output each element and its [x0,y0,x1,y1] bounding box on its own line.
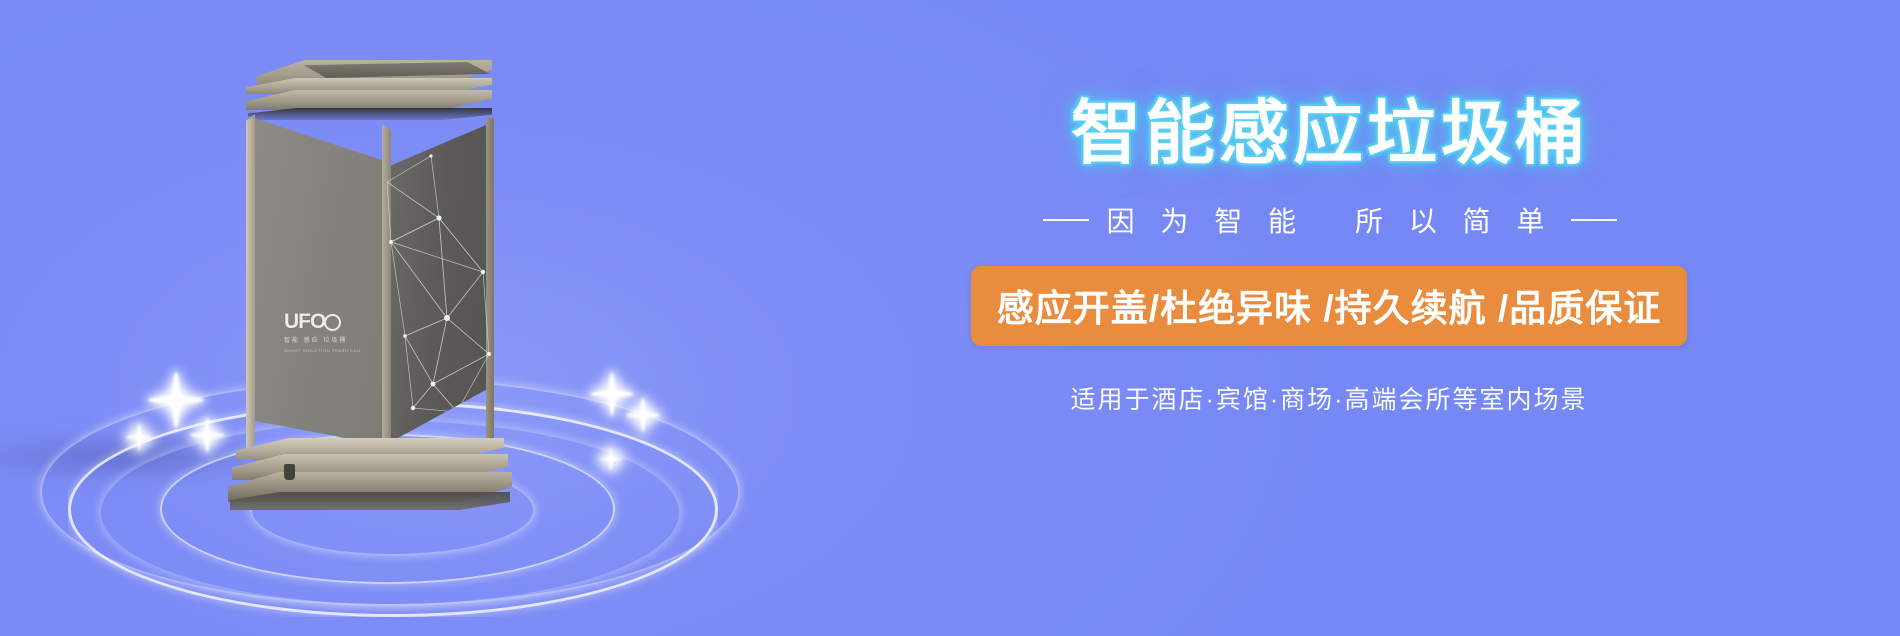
bin-lid-band-lower [246,90,492,110]
tagline-part-two: 所 以 简 单 [1355,200,1553,240]
product-brand-logo: UFO 智能 感应 垃圾桶 SMART INDUCTION TRASH CAN [284,312,348,368]
promo-copy-block: 智能感应垃圾桶 因 为 智 能 所 以 简 单 感应开盖/杜绝异味 /持久续航 … [860,96,1820,416]
promo-banner: UFO 智能 感应 垃圾桶 SMART INDUCTION TRASH CAN … [0,0,1900,636]
logo-chinese-text: 智能 感应 垃圾桶 [284,335,348,344]
product-stage: UFO 智能 感应 垃圾桶 SMART INDUCTION TRASH CAN [0,0,820,636]
feature-pill-wrapper: 感应开盖/杜绝异味 /持久续航 /品质保证 [860,240,1820,346]
logo-ring-icon [324,314,341,331]
polygon-mesh-graphic [387,122,493,444]
usage-scenario-text: 适用于酒店·宾馆·商场·高端会所等室内场景 [838,380,1820,416]
feature-badge: 感应开盖/杜绝异味 /持久续航 /品质保证 [971,266,1687,346]
logo-text: UFO [284,310,325,333]
bin-lid-shadow [248,108,492,120]
product-image-trash-bin: UFO 智能 感应 垃圾桶 SMART INDUCTION TRASH CAN [246,60,496,470]
bin-body-front-panel [248,116,388,446]
bin-edge-left [246,114,255,450]
bin-foot-pedal [284,464,295,480]
dash-left-icon [1043,219,1089,221]
page-title: 智能感应垃圾桶 [840,96,1820,172]
tagline: 因 为 智 能 所 以 简 单 [840,200,1820,240]
logo-wordmark: UFO [284,312,348,332]
tagline-part-one: 因 为 智 能 [1107,200,1305,240]
dash-right-icon [1571,219,1617,221]
logo-english-text: SMART INDUCTION TRASH CAN [284,348,348,353]
bin-base-shadow [230,492,510,510]
